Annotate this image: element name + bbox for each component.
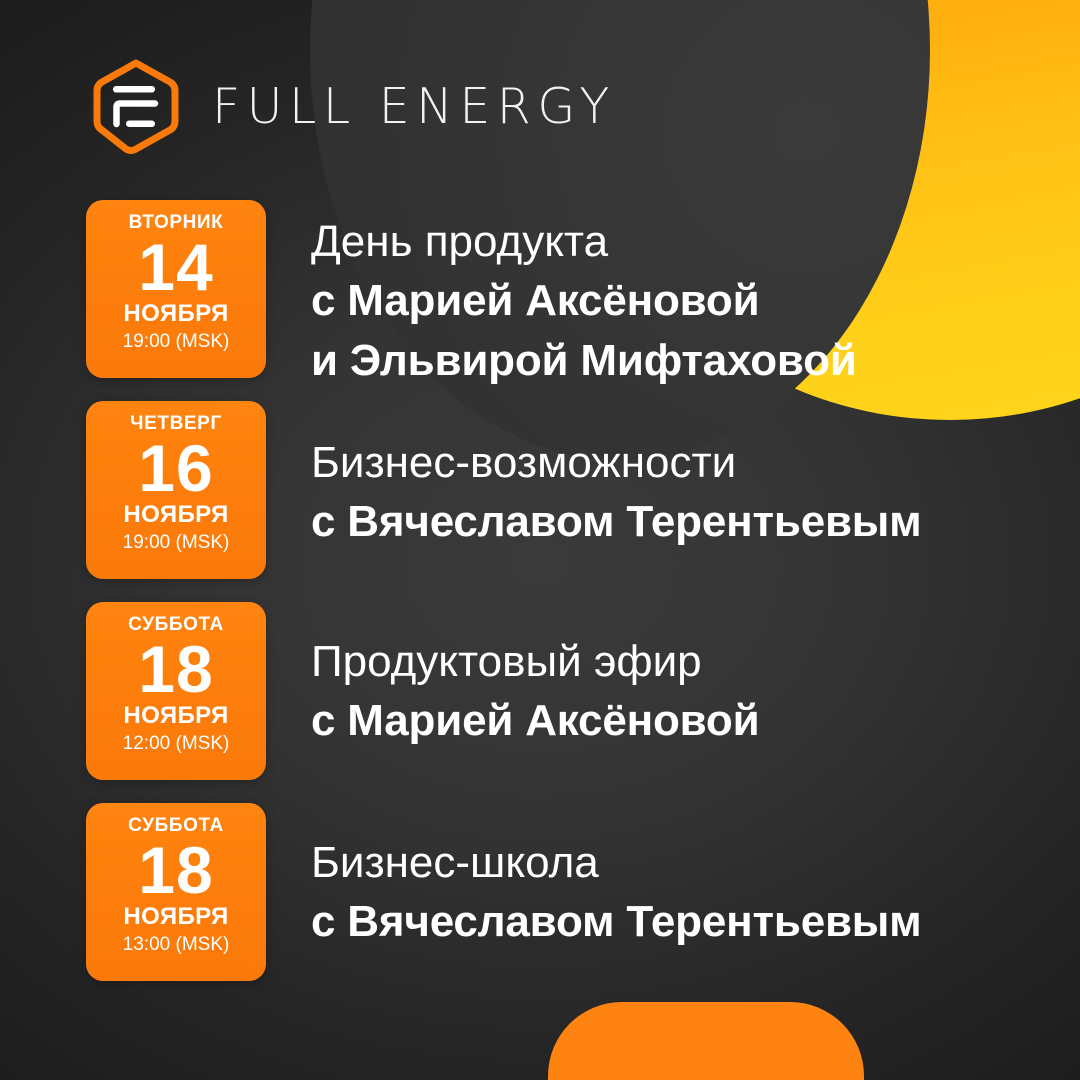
event-host-line-1: с Марией Аксёновой bbox=[311, 271, 857, 330]
date-month: НОЯБРЯ bbox=[123, 904, 228, 930]
brand-logo: FULL ENERGY bbox=[86, 56, 616, 156]
event-title: Бизнес-школа bbox=[311, 833, 922, 892]
date-card[interactable]: ЧЕТВЕРГ 16 НОЯБРЯ 19:00 (MSK) bbox=[86, 401, 266, 579]
date-time: 19:00 (MSK) bbox=[123, 331, 230, 354]
date-time: 13:00 (MSK) bbox=[123, 934, 230, 957]
hexagon-f-logo-icon bbox=[86, 56, 186, 156]
event-host-line-1: с Марией Аксёновой bbox=[311, 691, 759, 750]
date-month: НОЯБРЯ bbox=[123, 301, 228, 327]
date-time: 19:00 (MSK) bbox=[123, 532, 230, 555]
event-text-block: Продуктовый эфир с Марией Аксёновой bbox=[311, 602, 759, 751]
event-title: Бизнес-возможности bbox=[311, 433, 922, 492]
event-host-line-2: и Эльвирой Мифтаховой bbox=[311, 331, 857, 390]
event-host-line-1: с Вячеславом Терентьевым bbox=[311, 892, 922, 951]
event-row[interactable]: СУББОТА 18 НОЯБРЯ 12:00 (MSK) Продуктовы… bbox=[0, 602, 1080, 803]
event-text-block: Бизнес-школа с Вячеславом Терентьевым bbox=[311, 803, 922, 952]
date-day: 16 bbox=[138, 437, 213, 500]
date-time: 12:00 (MSK) bbox=[123, 733, 230, 756]
event-text-block: День продукта с Марией Аксёновой и Эльви… bbox=[311, 200, 857, 390]
brand-wordmark: FULL ENERGY bbox=[212, 82, 616, 131]
date-month: НОЯБРЯ bbox=[123, 703, 228, 729]
date-month: НОЯБРЯ bbox=[123, 502, 228, 528]
event-title: Продуктовый эфир bbox=[311, 632, 759, 691]
event-row[interactable]: СУББОТА 18 НОЯБРЯ 13:00 (MSK) Бизнес-шко… bbox=[0, 803, 1080, 1004]
event-row[interactable]: ВТОРНИК 14 НОЯБРЯ 19:00 (MSK) День проду… bbox=[0, 200, 1080, 401]
date-day: 18 bbox=[138, 638, 213, 701]
bottom-orange-shape-inner bbox=[576, 1050, 834, 1080]
date-day: 14 bbox=[138, 236, 213, 299]
date-card[interactable]: СУББОТА 18 НОЯБРЯ 13:00 (MSK) bbox=[86, 803, 266, 981]
date-day: 18 bbox=[138, 839, 213, 902]
event-row[interactable]: ЧЕТВЕРГ 16 НОЯБРЯ 19:00 (MSK) Бизнес-воз… bbox=[0, 401, 1080, 602]
date-card[interactable]: СУББОТА 18 НОЯБРЯ 12:00 (MSK) bbox=[86, 602, 266, 780]
event-schedule-poster: FULL ENERGY ВТОРНИК 14 НОЯБРЯ 19:00 (MSK… bbox=[0, 0, 1080, 1080]
event-title: День продукта bbox=[311, 212, 857, 271]
schedule-list: ВТОРНИК 14 НОЯБРЯ 19:00 (MSK) День проду… bbox=[0, 200, 1080, 1004]
event-text-block: Бизнес-возможности с Вячеславом Терентье… bbox=[311, 401, 922, 552]
event-host-line-1: с Вячеславом Терентьевым bbox=[311, 492, 922, 551]
date-card[interactable]: ВТОРНИК 14 НОЯБРЯ 19:00 (MSK) bbox=[86, 200, 266, 378]
